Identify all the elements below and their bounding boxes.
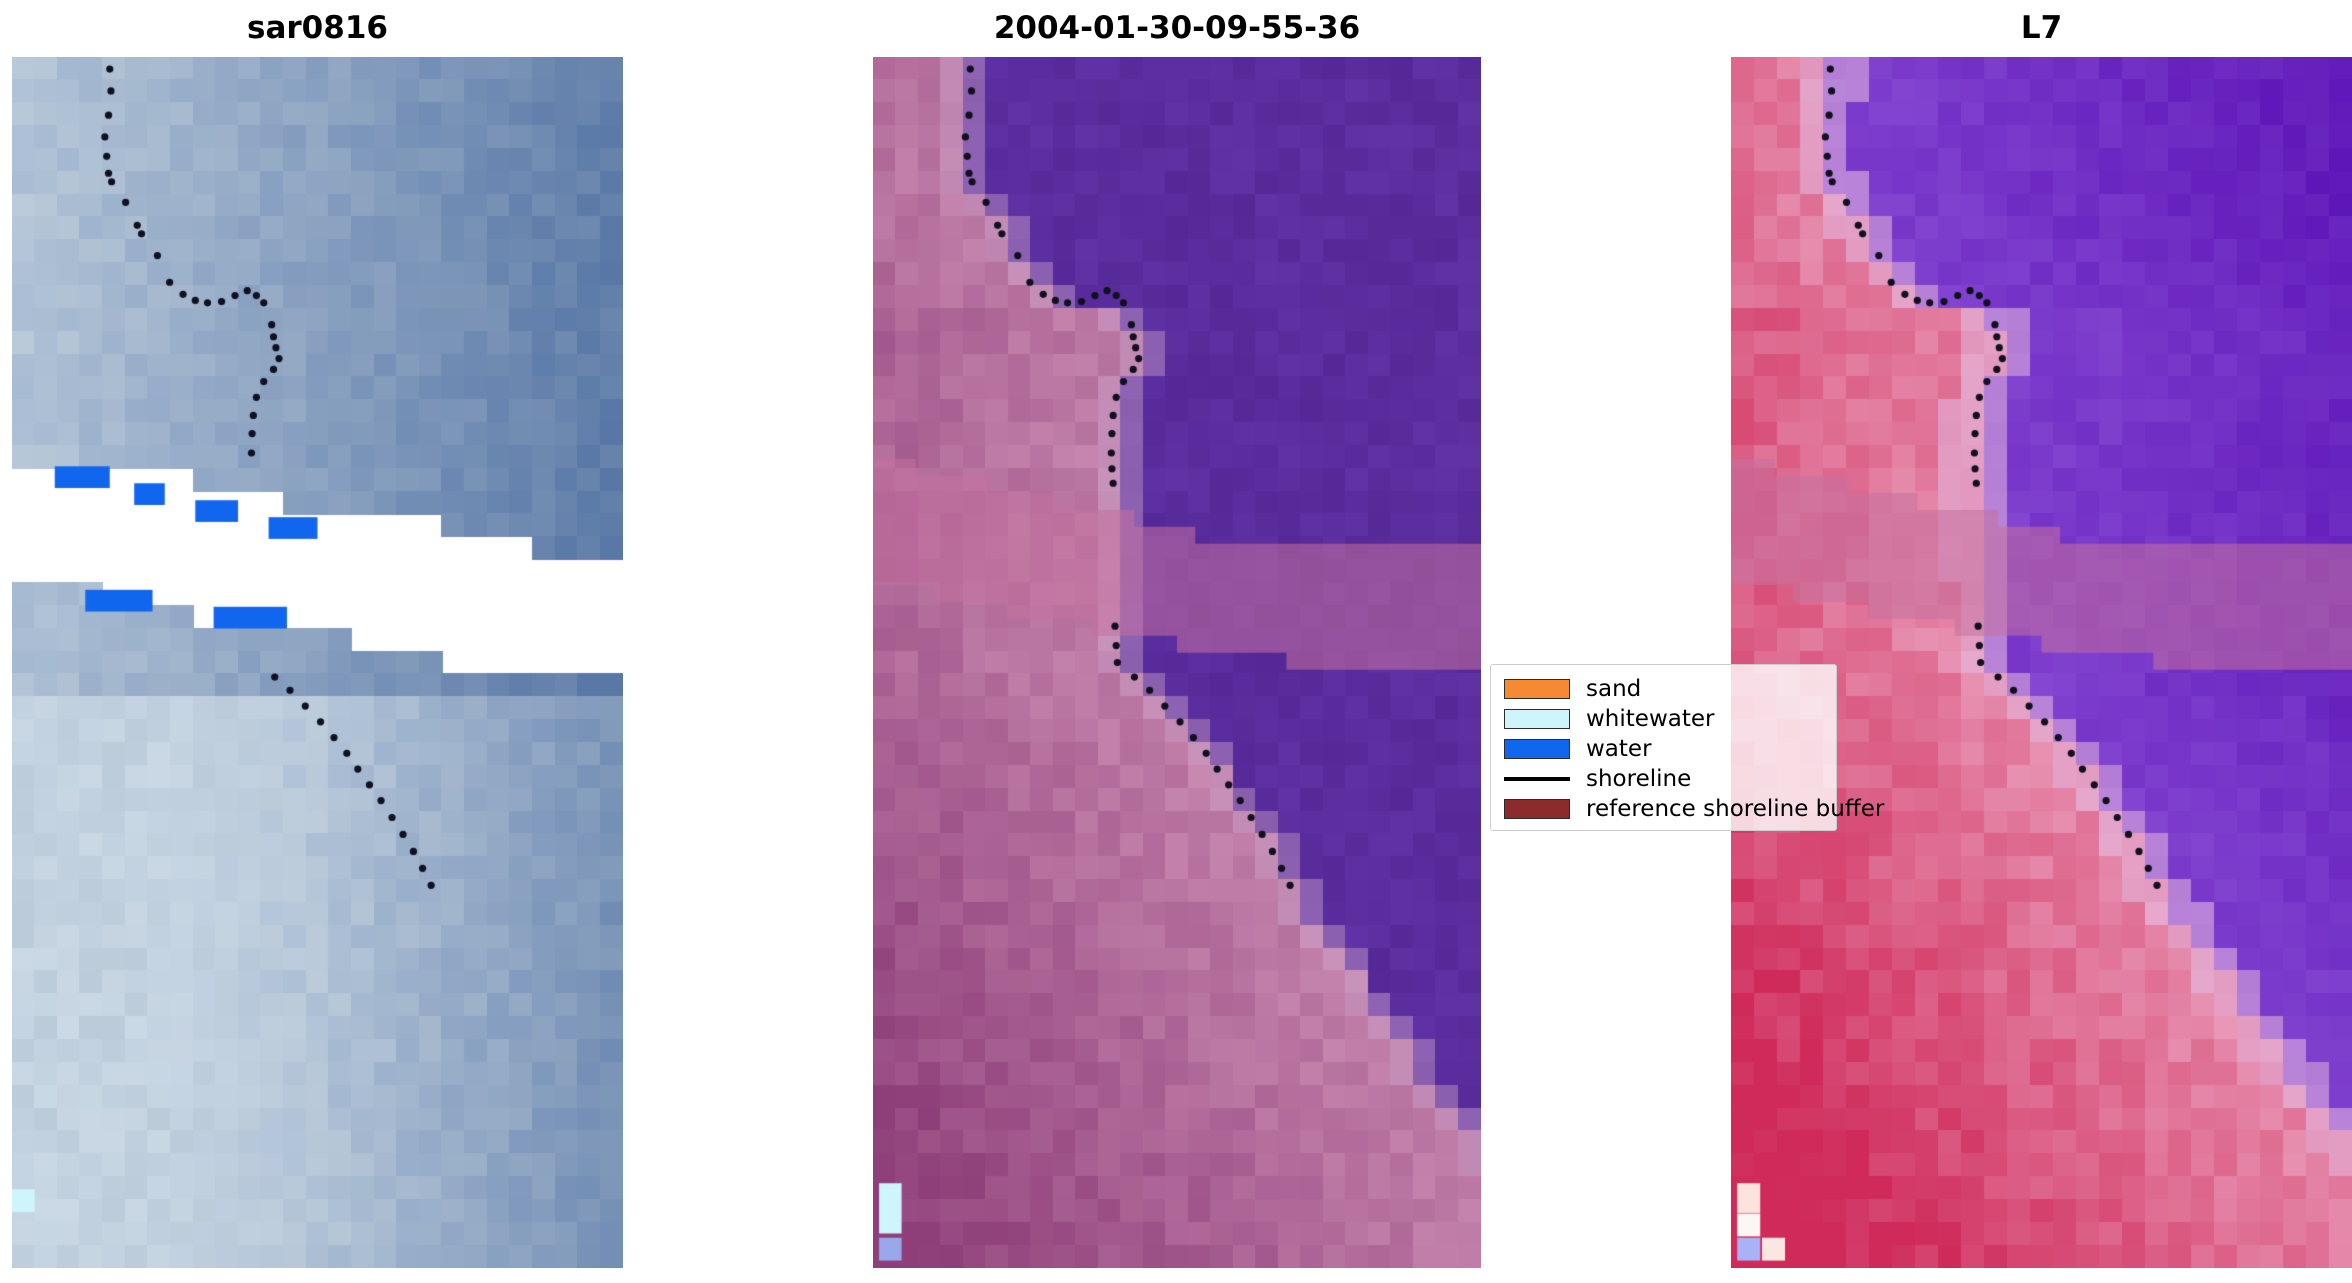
image-panel-sar[interactable] xyxy=(12,57,623,1268)
whitewater-swatch xyxy=(1504,709,1570,729)
legend-label-shoreline: shoreline xyxy=(1586,764,1691,794)
legend-item-whitewater: whitewater xyxy=(1491,704,1836,734)
legend-item-sand: sand xyxy=(1491,674,1836,704)
buffer-swatch xyxy=(1504,799,1570,819)
shoreline-line xyxy=(1504,777,1570,781)
panel-title-date: 2004-01-30-09-55-36 xyxy=(873,6,1481,50)
legend-label-whitewater: whitewater xyxy=(1586,704,1714,734)
water-swatch xyxy=(1504,739,1570,759)
legend-item-buffer: reference shoreline buffer xyxy=(1491,794,1836,824)
sar-raster xyxy=(12,57,623,1268)
panel-title-l7: L7 xyxy=(1731,6,2352,50)
classified-raster xyxy=(873,57,1481,1268)
legend-label-buffer: reference shoreline buffer xyxy=(1586,794,1884,824)
image-panel-l7[interactable] xyxy=(1731,57,2352,1268)
legend-label-sand: sand xyxy=(1586,674,1641,704)
legend-box: sand whitewater water shoreline referenc… xyxy=(1490,664,1837,831)
legend-label-water: water xyxy=(1586,734,1652,764)
legend-item-water: water xyxy=(1491,734,1836,764)
panel-title-sar: sar0816 xyxy=(12,6,623,50)
l7-raster xyxy=(1731,57,2352,1268)
sand-swatch xyxy=(1504,679,1570,699)
legend-item-shoreline: shoreline xyxy=(1491,764,1836,794)
figure-canvas: sar0816 2004-01-30-09-55-36 L7 sand whit… xyxy=(0,0,2352,1283)
image-panel-classified[interactable] xyxy=(873,57,1481,1268)
